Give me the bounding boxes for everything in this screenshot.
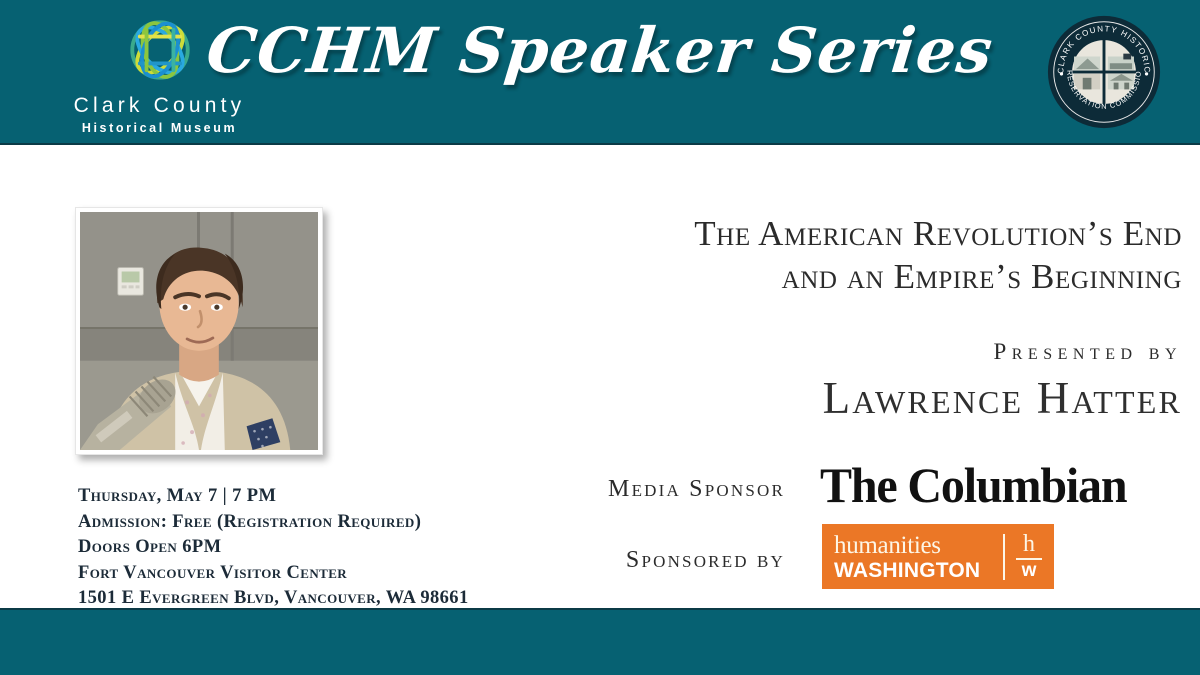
header-bar: Clark County Historical Museum CCHM Spea…	[0, 0, 1200, 145]
speaker-portrait-photo	[80, 212, 318, 450]
speaker-photo	[75, 207, 323, 455]
event-poster: Clark County Historical Museum CCHM Spea…	[0, 0, 1200, 675]
hw-monogram: h w	[1016, 533, 1042, 580]
footer-bar	[0, 608, 1200, 675]
washington-word: WASHINGTON	[834, 560, 980, 581]
humanities-washington-logo: humanities WASHINGTON h w	[822, 524, 1054, 589]
presenter-name: Lawrence Hatter	[560, 372, 1182, 424]
monogram-h: h	[1023, 533, 1035, 556]
humanities-word: humanities	[834, 533, 941, 558]
event-admission: Admission: Free (Registration Required)	[78, 510, 469, 536]
event-date-time: Thursday, May 7 | 7 PM	[78, 484, 469, 510]
humanities-wordmark: humanities WASHINGTON	[834, 533, 997, 581]
logo-divider	[1003, 534, 1005, 580]
page-title: The American Revolution’s End and an Emp…	[400, 213, 1182, 298]
speaker-photo-image	[80, 212, 318, 450]
presented-by-label: Presented by	[600, 339, 1182, 365]
monogram-w: w	[1022, 562, 1037, 580]
series-title: CCHM Speaker Series	[0, 14, 1200, 87]
sponsored-by-label: Sponsored by	[455, 547, 785, 574]
museum-name: Clark County	[74, 94, 246, 118]
event-doors-open: Doors Open 6PM	[78, 535, 469, 561]
talk-title-line-2: and an Empire’s Beginning	[400, 256, 1182, 299]
museum-subtitle: Historical Museum	[82, 121, 237, 135]
preservation-commission-seal-icon: CLARK COUNTY HISTORIC PRESERVATION COMMI…	[1046, 14, 1162, 130]
the-columbian-logo: The Columbian	[820, 460, 1162, 510]
event-details: Thursday, May 7 | 7 PM Admission: Free (…	[78, 484, 469, 612]
media-sponsor-label: Media Sponsor	[455, 476, 785, 503]
event-venue: Fort Vancouver Visitor Center	[78, 561, 469, 587]
talk-title-line-1: The American Revolution’s End	[400, 213, 1182, 256]
